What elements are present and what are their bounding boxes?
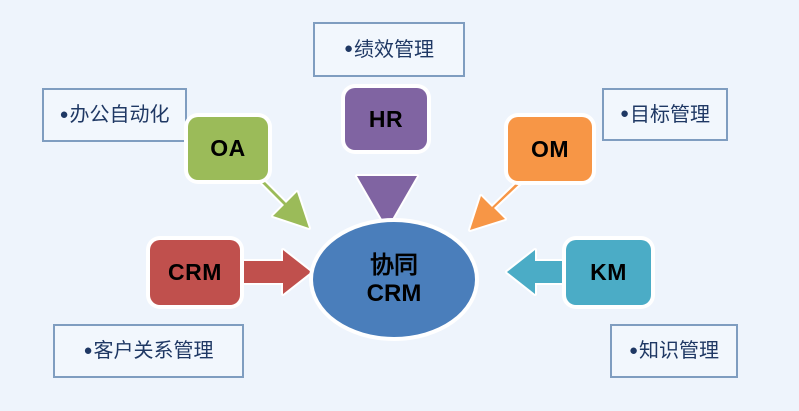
diagram-canvas: 协同 CRM OA HR OM CRM KM ● 绩效管理 ● 办公自动化 ● … xyxy=(0,0,799,411)
arrow-om xyxy=(470,174,528,230)
caption-bullet-km: ● xyxy=(629,343,638,358)
caption-bullet-oa: ● xyxy=(59,107,68,122)
module-crm[interactable]: CRM xyxy=(150,240,240,305)
module-oa-label: OA xyxy=(210,135,246,162)
caption-bullet-hr: ● xyxy=(344,41,353,56)
caption-oa-office-automation[interactable]: ● 办公自动化 xyxy=(42,88,187,142)
module-om-label: OM xyxy=(531,136,569,163)
caption-bullet-om: ● xyxy=(620,106,629,121)
caption-crm-customer-relationship[interactable]: ● 客户关系管理 xyxy=(53,324,244,378)
module-crm-label: CRM xyxy=(168,259,222,286)
module-om[interactable]: OM xyxy=(508,117,592,181)
caption-hr-label: 绩效管理 xyxy=(354,40,434,60)
caption-km-knowledge-management[interactable]: ● 知识管理 xyxy=(610,324,738,378)
caption-crm-label: 客户关系管理 xyxy=(94,341,214,361)
module-hr[interactable]: HR xyxy=(345,88,427,150)
module-km-label: KM xyxy=(590,259,627,286)
caption-hr-performance[interactable]: ● 绩效管理 xyxy=(313,22,465,77)
arrow-hr xyxy=(357,176,417,228)
caption-km-label: 知识管理 xyxy=(639,341,719,361)
center-node-line1: 协同 xyxy=(370,252,418,280)
center-node-line2: CRM xyxy=(367,280,422,308)
caption-om-label: 目标管理 xyxy=(630,105,710,125)
center-node[interactable]: 协同 CRM xyxy=(313,222,475,337)
caption-om-goal-management[interactable]: ● 目标管理 xyxy=(602,88,728,141)
module-km[interactable]: KM xyxy=(566,240,651,305)
caption-oa-label: 办公自动化 xyxy=(70,105,170,125)
module-hr-label: HR xyxy=(369,106,403,133)
caption-bullet-crm: ● xyxy=(83,343,92,358)
module-oa[interactable]: OA xyxy=(188,117,268,180)
arrow-crm xyxy=(237,250,311,294)
arrow-km xyxy=(507,250,568,294)
